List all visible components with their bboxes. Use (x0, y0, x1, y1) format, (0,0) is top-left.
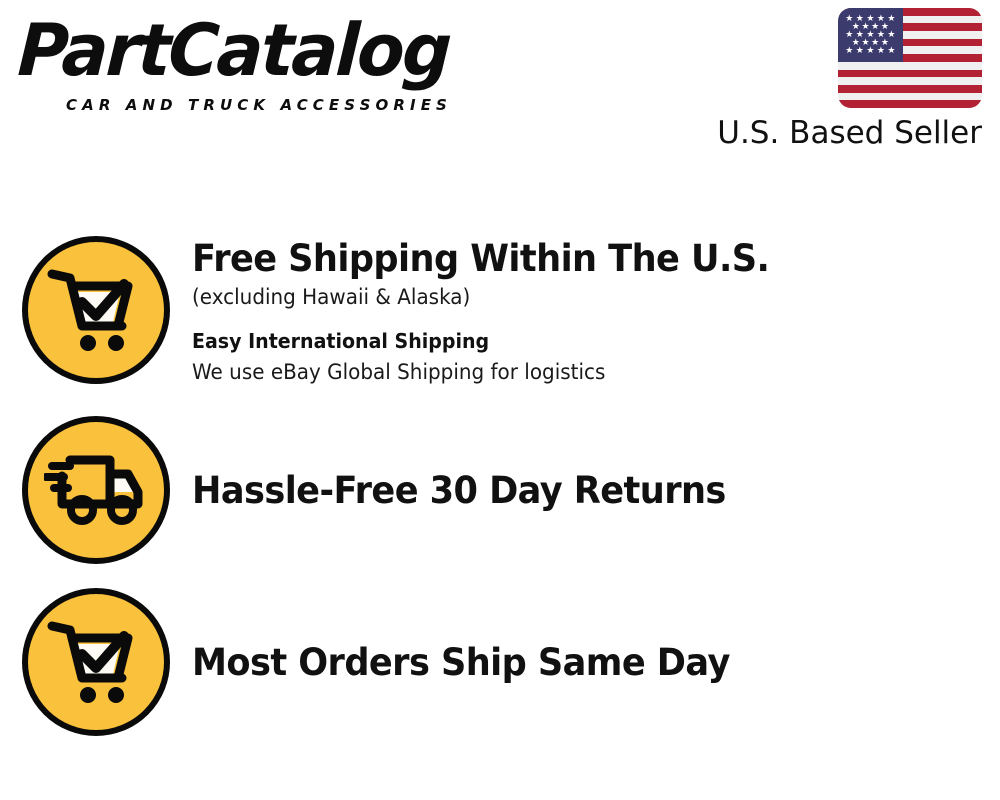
flag-star-row: ★ ★ ★ ★ ★ (844, 47, 897, 55)
delivery-truck-icon (22, 416, 170, 564)
header-bar: PartCatalog CAR AND TRUCK ACCESSORIES ★ … (0, 0, 1000, 170)
shopping-cart-check-icon (22, 588, 170, 736)
flag-star: ★ (866, 46, 874, 55)
brand-logo[interactable]: PartCatalog CAR AND TRUCK ACCESSORIES (20, 20, 490, 115)
feature-subheading: Easy International Shipping (192, 328, 960, 354)
us-based-seller-badge: ★ ★ ★ ★ ★ ★ ★ ★ ★ ★ ★ ★ ★ ★ (712, 8, 982, 150)
feature-row: Most Orders Ship Same Day (0, 584, 1000, 756)
us-flag-icon: ★ ★ ★ ★ ★ ★ ★ ★ ★ ★ ★ ★ ★ ★ (838, 8, 982, 108)
flag-stripe (838, 85, 982, 93)
flag-stripe (838, 100, 982, 108)
feature-title: Most Orders Ship Same Day (192, 642, 960, 683)
flag-stripe (838, 62, 982, 70)
flag-canton: ★ ★ ★ ★ ★ ★ ★ ★ ★ ★ ★ ★ ★ ★ (838, 8, 903, 62)
flag-star: ★ (877, 46, 885, 55)
feature-text-block: Free Shipping Within The U.S. (excluding… (192, 232, 1000, 386)
feature-row: Free Shipping Within The U.S. (excluding… (0, 232, 1000, 412)
feature-icon-slot (0, 412, 192, 564)
feature-list: Free Shipping Within The U.S. (excluding… (0, 232, 1000, 756)
feature-icon-slot (0, 584, 192, 736)
flag-star: ★ (845, 46, 853, 55)
brand-tagline: CAR AND TRUCK ACCESSORIES (66, 98, 452, 113)
feature-title: Hassle-Free 30 Day Returns (192, 470, 960, 511)
feature-title: Free Shipping Within The U.S. (192, 238, 960, 279)
feature-icon-slot (0, 232, 192, 384)
flag-stripe (838, 70, 982, 78)
feature-text-block: Most Orders Ship Same Day (192, 584, 1000, 683)
feature-text-block: Hassle-Free 30 Day Returns (192, 412, 1000, 511)
feature-subnote: (excluding Hawaii & Alaska) (192, 284, 960, 311)
flag-stripe (838, 93, 982, 101)
shopping-cart-check-icon (22, 236, 170, 384)
us-based-seller-label: U.S. Based Seller (712, 116, 982, 150)
flag-star: ★ (856, 46, 864, 55)
flag-stripe (838, 77, 982, 85)
brand-wordmark: PartCatalog (16, 14, 451, 86)
flag-star: ★ (887, 46, 895, 55)
feature-subdetail: We use eBay Global Shipping for logistic… (192, 359, 960, 386)
feature-row: Hassle-Free 30 Day Returns (0, 412, 1000, 584)
